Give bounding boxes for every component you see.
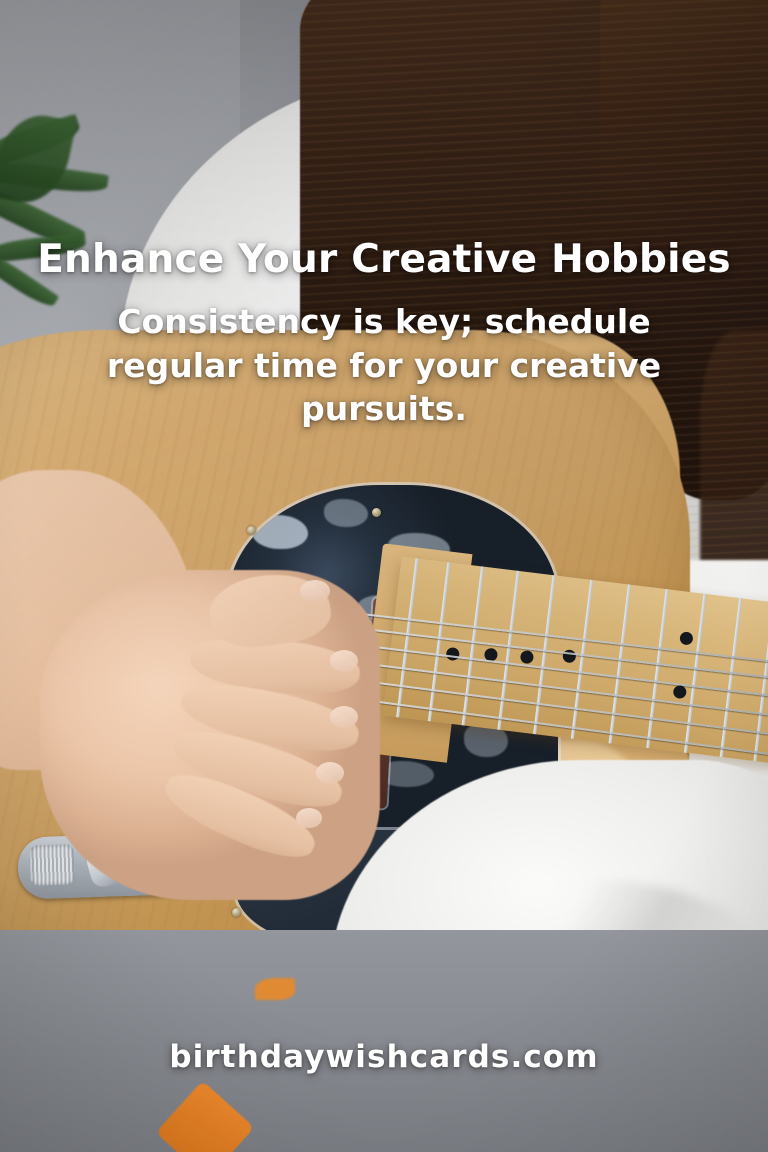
subheadline: Consistency is key; schedule regular tim… (96, 300, 672, 431)
quote-card: Enhance Your Creative Hobbies Consistenc… (0, 0, 768, 1152)
site-watermark: birthdaywishcards.com (0, 1039, 768, 1075)
headline: Enhance Your Creative Hobbies (0, 240, 768, 281)
text-overlay: Enhance Your Creative Hobbies Consistenc… (0, 0, 768, 1152)
